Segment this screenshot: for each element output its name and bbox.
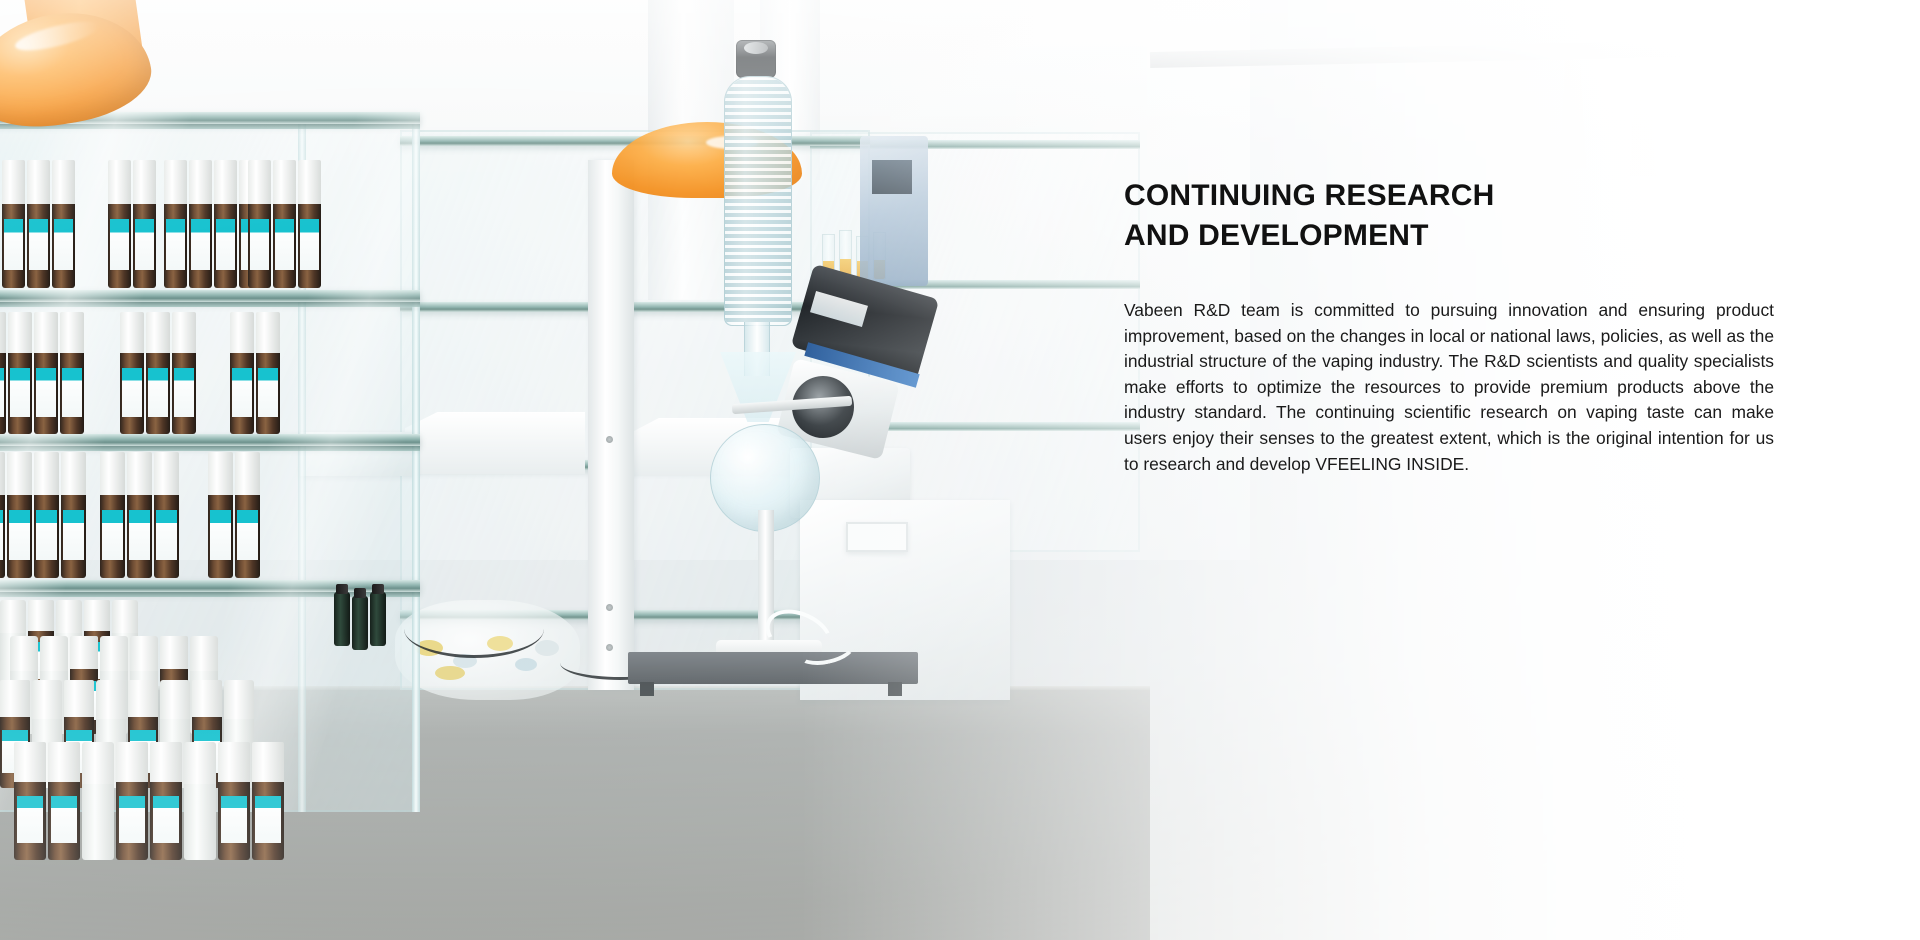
page-title: CONTINUING RESEARCH AND DEVELOPMENT [1124, 176, 1774, 256]
banner-content: CONTINUING RESEARCH AND DEVELOPMENT Vabe… [1124, 176, 1774, 477]
banner-description: Vabeen R&D team is committed to pursuing… [1124, 298, 1774, 477]
headline-line-1: CONTINUING RESEARCH [1124, 176, 1774, 216]
headline-line-2: AND DEVELOPMENT [1124, 216, 1774, 256]
research-development-banner: CONTINUING RESEARCH AND DEVELOPMENT Vabe… [0, 0, 1920, 940]
